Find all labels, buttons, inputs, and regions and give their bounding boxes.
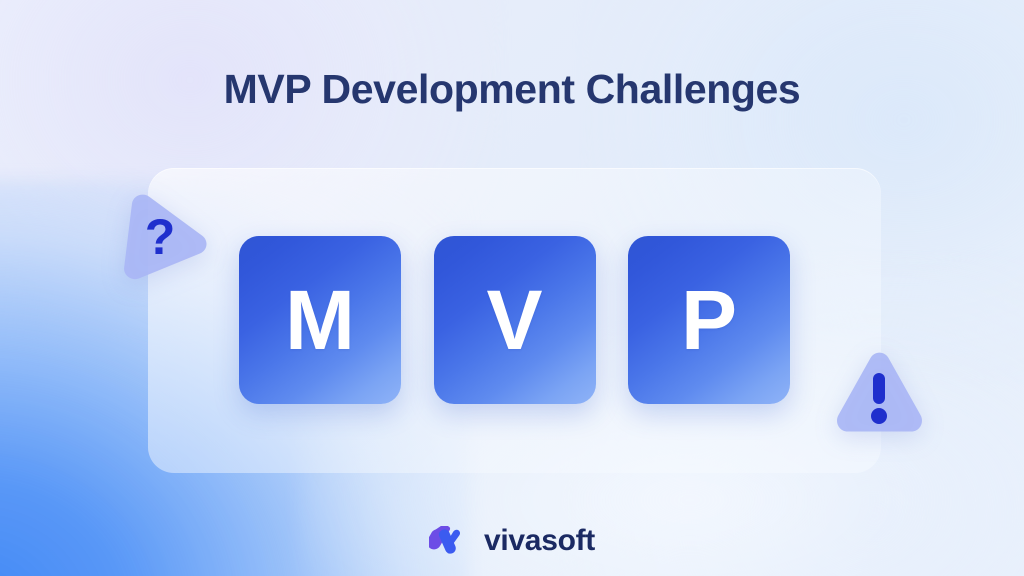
vivasoft-logo: vivasoft [0,526,1024,556]
letter-card-v: V [434,236,596,404]
letter-glyph-v: V [486,278,542,362]
exclamation-warning-triangle-icon: ! [828,349,928,445]
letter-glyph-p: P [681,278,737,362]
letter-glyph-m: M [285,278,355,362]
vivasoft-w-mark-icon [429,526,473,556]
question-glyph: ? [145,209,176,265]
vivasoft-wordmark: vivasoft [484,526,595,556]
letter-card-p: P [628,236,790,404]
letter-card-m: M [239,236,401,404]
slide-canvas: MVP Development Challenges M V P ? ! [0,0,1024,576]
question-mark-triangle-icon: ? [112,186,208,290]
mvp-letter-card-group: M V P [239,236,790,404]
page-title: MVP Development Challenges [0,66,1024,113]
